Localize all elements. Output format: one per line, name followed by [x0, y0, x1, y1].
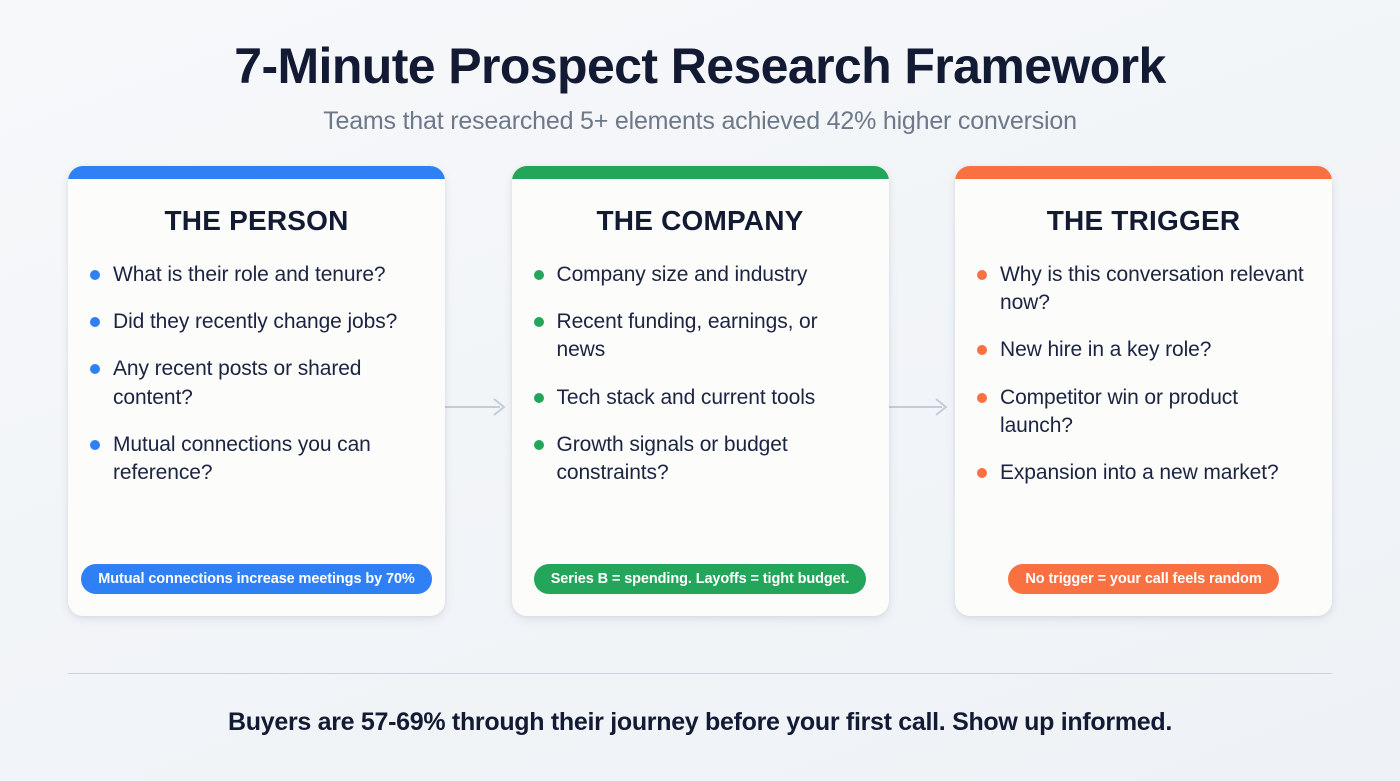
- list-item: What is their role and tenure?: [90, 261, 423, 289]
- list-item: Company size and industry: [534, 261, 867, 289]
- infographic-page: 7-Minute Prospect Research Framework Tea…: [0, 0, 1400, 781]
- bullet-text: Did they recently change jobs?: [113, 308, 397, 336]
- card-accent-bar: [512, 166, 889, 179]
- header: 7-Minute Prospect Research Framework Tea…: [0, 0, 1400, 136]
- card-the-trigger: THE TRIGGER Why is this conversation rel…: [955, 166, 1332, 616]
- bullet-text: What is their role and tenure?: [113, 261, 385, 289]
- card-title: THE PERSON: [90, 205, 423, 237]
- bullet-dot-icon: [977, 345, 987, 355]
- list-item: Competitor win or product launch?: [977, 384, 1310, 441]
- list-item: Any recent posts or shared content?: [90, 355, 423, 412]
- card-title: THE TRIGGER: [977, 205, 1310, 237]
- list-item: New hire in a key role?: [977, 336, 1310, 364]
- page-subtitle: Teams that researched 5+ elements achiev…: [0, 107, 1400, 136]
- bullet-dot-icon: [90, 317, 100, 327]
- bullet-text: Recent funding, earnings, or news: [557, 308, 867, 365]
- bullet-text: Any recent posts or shared content?: [113, 355, 423, 412]
- badge-wrap: Series B = spending. Layoffs = tight bud…: [534, 564, 867, 594]
- badge-wrap: Mutual connections increase meetings by …: [90, 564, 423, 594]
- bullet-text: Growth signals or budget constraints?: [557, 431, 867, 488]
- bullet-text: Company size and industry: [557, 261, 808, 289]
- bullet-dot-icon: [977, 393, 987, 403]
- bullet-text: Mutual connections you can reference?: [113, 431, 423, 488]
- card-the-person: THE PERSON What is their role and tenure…: [68, 166, 445, 616]
- card-the-company: THE COMPANY Company size and industry Re…: [512, 166, 889, 616]
- list-item: Tech stack and current tools: [534, 384, 867, 412]
- bullet-dot-icon: [90, 270, 100, 280]
- badge-wrap: No trigger = your call feels random: [977, 564, 1310, 594]
- bullet-dot-icon: [534, 440, 544, 450]
- list-item: Growth signals or budget constraints?: [534, 431, 867, 488]
- list-item: Mutual connections you can reference?: [90, 431, 423, 488]
- bullet-list: What is their role and tenure? Did they …: [90, 261, 423, 542]
- bullet-dot-icon: [977, 270, 987, 280]
- footer-text: Buyers are 57-69% through their journey …: [68, 708, 1332, 737]
- bullet-dot-icon: [534, 393, 544, 403]
- bullet-dot-icon: [534, 270, 544, 280]
- list-item: Recent funding, earnings, or news: [534, 308, 867, 365]
- bullet-text: Tech stack and current tools: [557, 384, 816, 412]
- page-title: 7-Minute Prospect Research Framework: [0, 38, 1400, 96]
- card-body: THE COMPANY Company size and industry Re…: [512, 179, 889, 616]
- arrow-right-icon: [444, 396, 510, 418]
- bullet-text: Competitor win or product launch?: [1000, 384, 1310, 441]
- bullet-text: Expansion into a new market?: [1000, 459, 1279, 487]
- card-body: THE PERSON What is their role and tenure…: [68, 179, 445, 616]
- insight-badge: No trigger = your call feels random: [1008, 564, 1278, 594]
- insight-badge: Series B = spending. Layoffs = tight bud…: [534, 564, 867, 594]
- insight-badge: Mutual connections increase meetings by …: [81, 564, 431, 594]
- cards-row: THE PERSON What is their role and tenure…: [0, 166, 1400, 616]
- bullet-list: Company size and industry Recent funding…: [534, 261, 867, 542]
- bullet-dot-icon: [534, 317, 544, 327]
- bullet-dot-icon: [90, 440, 100, 450]
- footer: Buyers are 57-69% through their journey …: [0, 673, 1400, 781]
- card-accent-bar: [955, 166, 1332, 179]
- arrow-right-icon: [886, 396, 952, 418]
- bullet-list: Why is this conversation relevant now? N…: [977, 261, 1310, 542]
- footer-divider: [68, 673, 1332, 674]
- list-item: Why is this conversation relevant now?: [977, 261, 1310, 318]
- list-item: Did they recently change jobs?: [90, 308, 423, 336]
- list-item: Expansion into a new market?: [977, 459, 1310, 487]
- bullet-text: Why is this conversation relevant now?: [1000, 261, 1310, 318]
- card-accent-bar: [68, 166, 445, 179]
- bullet-text: New hire in a key role?: [1000, 336, 1211, 364]
- bullet-dot-icon: [977, 468, 987, 478]
- card-title: THE COMPANY: [534, 205, 867, 237]
- bullet-dot-icon: [90, 364, 100, 374]
- card-body: THE TRIGGER Why is this conversation rel…: [955, 179, 1332, 616]
